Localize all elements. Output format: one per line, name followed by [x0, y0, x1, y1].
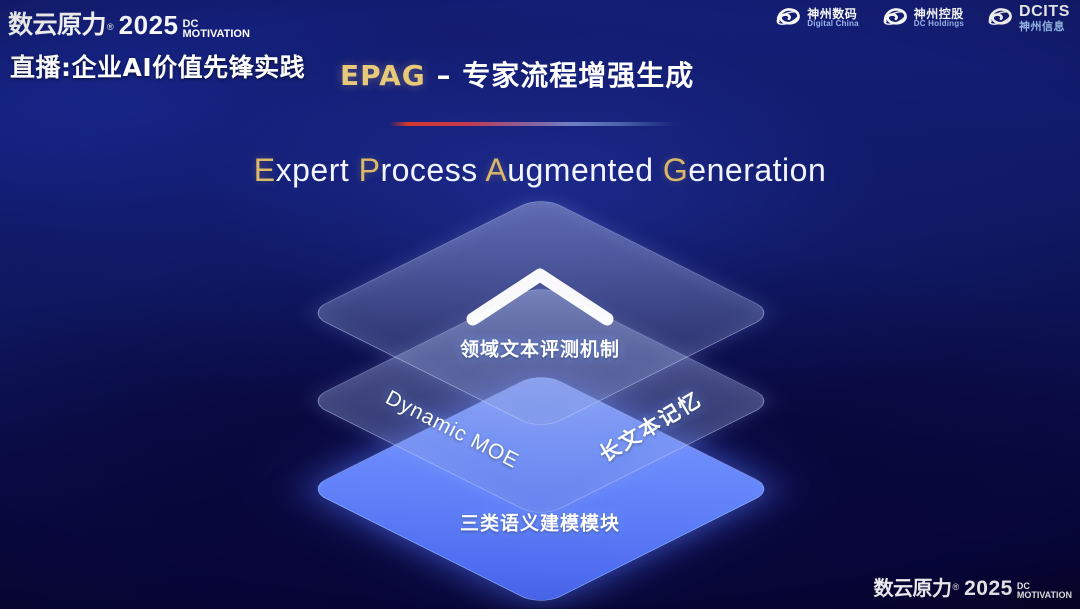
- partner-label-digital-china: 神州数码 Digital China: [807, 8, 859, 29]
- partner-label-dcits: DCITS 神州信息: [1019, 4, 1070, 32]
- page-title: EPAG – 专家流程增强生成: [340, 54, 694, 94]
- swirl-icon: [986, 4, 1014, 32]
- brand-logo-year: 2025: [119, 10, 179, 41]
- partner-label-dc-holdings: 神州控股 DC Holdings: [914, 8, 964, 29]
- brand-logo-chinese: 数云原力: [873, 572, 951, 601]
- brand-logo-motivation: MOTIVATION: [1017, 591, 1072, 599]
- brand-logo-dc-motivation: DC MOTIVATION: [183, 19, 250, 41]
- subtitle-word-process: rocess: [380, 152, 477, 188]
- subtitle-capital-p: P: [359, 152, 381, 188]
- title-dash: –: [426, 59, 463, 92]
- brand-logo-chinese: 数云原力: [8, 5, 106, 41]
- partner-name-en: DC Holdings: [914, 20, 964, 28]
- subtitle-word-generation: eneration: [688, 152, 826, 188]
- brand-logo-year: 2025: [964, 577, 1013, 601]
- brand-logo-registered-mark: ®: [952, 582, 959, 592]
- subtitle-capital-g: G: [663, 152, 688, 188]
- brand-logo-dc-motivation: DC MOTIVATION: [1017, 582, 1072, 601]
- brand-logo-registered-mark: ®: [107, 22, 114, 32]
- subtitle-capital-a: A: [485, 152, 507, 188]
- partner-name-cn: 神州信息: [1019, 21, 1070, 33]
- partner-name-en: Digital China: [807, 20, 859, 28]
- swirl-icon: [881, 4, 909, 32]
- title-chinese: 专家流程增强生成: [462, 59, 694, 92]
- partner-logo-group: 神州数码 Digital China 神州控股 DC Holdings DCIT…: [774, 4, 1070, 32]
- title-acronym: EPAG: [340, 59, 426, 92]
- live-session-title: 直播:企业AI价值先锋实践: [10, 48, 305, 84]
- swirl-icon: [774, 4, 802, 32]
- page-subtitle: Expert Process Augmented Generation: [0, 152, 1080, 189]
- subtitle-word-augmented: ugmented: [507, 152, 653, 188]
- subtitle-capital-e: E: [254, 152, 276, 188]
- brand-logo-motivation: MOTIVATION: [183, 29, 250, 39]
- partner-logo-dc-holdings: 神州控股 DC Holdings: [881, 4, 964, 32]
- partner-name-en: DCITS: [1019, 4, 1070, 21]
- partner-logo-digital-china: 神州数码 Digital China: [774, 4, 859, 32]
- partner-logo-dcits: DCITS 神州信息: [986, 4, 1070, 32]
- title-divider: [390, 122, 685, 126]
- brand-logo-top-left: 数云原力 ® 2025 DC MOTIVATION: [8, 5, 250, 41]
- slide-canvas: 数云原力 ® 2025 DC MOTIVATION 直播:企业AI价值先锋实践 …: [0, 0, 1080, 609]
- subtitle-word-expert: xpert: [276, 152, 350, 188]
- brand-logo-watermark: 数云原力 ® 2025 DC MOTIVATION: [873, 572, 1072, 601]
